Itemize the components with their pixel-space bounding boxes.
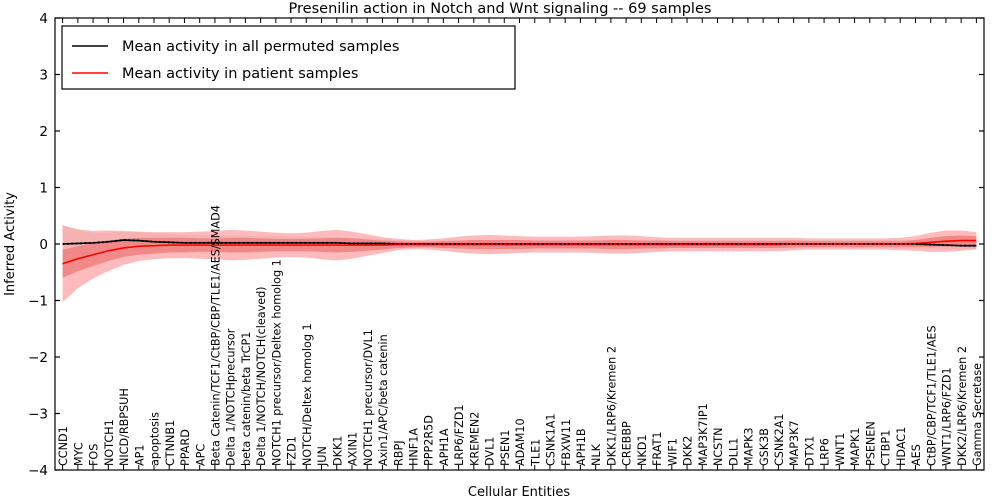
x-tick-label: MYC — [72, 442, 85, 466]
x-tick-label: WNT1 — [834, 433, 847, 466]
x-tick-label: MAPK1 — [849, 427, 862, 466]
x-tick-label: AXIN1 — [347, 432, 360, 466]
x-tick-label: PSENEN — [864, 421, 877, 466]
x-tick-label: NLK — [590, 443, 603, 466]
x-tick-label: DKK2 — [682, 436, 695, 466]
legend-label-permuted: Mean activity in all permuted samples — [122, 39, 399, 55]
x-tick-label: NOTCH1 precursor/Deltex homolog 1 — [270, 259, 283, 466]
x-tick-label: Beta Catenin/TCF1/CtBP/CBP/TLE1/AES/SMAD… — [210, 205, 223, 466]
x-tick-label: DLL1 — [727, 438, 740, 466]
x-tick-label: MAP3K7 — [788, 420, 801, 466]
x-tick-label: NKD1 — [636, 435, 649, 466]
y-axis-label: Inferred Activity — [3, 192, 18, 296]
x-tick-label: WIF1 — [666, 438, 679, 466]
x-tick-label: AES — [910, 444, 923, 466]
y-tick-label: 2 — [39, 124, 48, 140]
y-tick-label: −1 — [28, 294, 48, 310]
x-tick-label: DKK1/LRP6/Kremen 2 — [605, 346, 618, 466]
x-tick-label: Gamma Secretase — [971, 363, 984, 466]
x-tick-label: APH1A — [438, 428, 451, 466]
chart-canvas: Presenilin action in Notch and Wnt signa… — [0, 0, 1000, 500]
x-tick-label: MAPK3 — [743, 427, 756, 466]
x-tick-label: AP1 — [133, 444, 146, 466]
x-tick-label: LRP6 — [819, 438, 832, 466]
x-tick-label: ADAM10 — [514, 418, 527, 466]
x-tick-label: DKK1 — [331, 436, 344, 466]
x-tick-label: CREBBP — [621, 421, 634, 466]
x-tick-label: CSNK2A1 — [773, 413, 786, 466]
x-tick-label: PSEN1 — [499, 430, 512, 466]
x-tick-label: NICD/RBPSUH — [118, 388, 131, 466]
x-tick-label: FRAT1 — [651, 432, 664, 467]
x-tick-label: FBXW11 — [560, 419, 573, 466]
x-tick-label: Delta 1/NOTCH/NOTCH(cleaved) — [255, 286, 268, 466]
x-tick-label: apoptosis — [149, 412, 162, 466]
x-tick-label: CTBP1 — [880, 430, 893, 466]
x-tick-label: GSK3B — [758, 428, 771, 466]
x-tick-label: FZD1 — [286, 436, 299, 466]
y-tick-label: −4 — [28, 463, 48, 479]
x-tick-label: NOTCH/Deltex homolog 1 — [301, 323, 314, 466]
y-tick-label: 3 — [39, 68, 48, 84]
x-tick-label: FOS — [88, 444, 101, 466]
y-tick-label: 4 — [39, 11, 48, 27]
x-tick-label: CTNNB1 — [164, 420, 177, 466]
x-tick-label: PPARD — [179, 429, 192, 466]
x-tick-label: RBPJ — [392, 441, 405, 467]
x-tick-label: APH1B — [575, 428, 588, 466]
x-tick-label: DKK2/LRP6/Kremen 2 — [956, 346, 969, 466]
x-tick-label: CCND1 — [57, 426, 70, 466]
y-tick-label: 1 — [39, 181, 48, 197]
chart-title: Presenilin action in Notch and Wnt signa… — [289, 1, 712, 17]
x-tick-label: HNF1A — [407, 428, 420, 466]
legend-label-patient: Mean activity in patient samples — [122, 66, 358, 82]
x-tick-label: WNT1/LRP6/FZD1 — [941, 367, 954, 466]
x-tick-label: DVL1 — [484, 437, 497, 466]
y-tick-label: 0 — [39, 237, 48, 253]
x-tick-label: CtBP/CBP/TCF1/TLE1/AES — [925, 325, 938, 466]
x-tick-label: JUN — [316, 446, 329, 467]
x-tick-label: DTX1 — [803, 436, 816, 466]
x-tick-label: Axin1/APC/beta catenin — [377, 334, 390, 466]
x-tick-label: NOTCH1 precursor/DVL1 — [362, 329, 375, 466]
x-tick-label: Delta 1/NOTCHprecursor — [225, 328, 238, 466]
x-tick-label: APC — [194, 444, 207, 466]
chart-legend[interactable]: Mean activity in all permuted samples Me… — [62, 26, 515, 89]
x-tick-label: TLE1 — [529, 439, 542, 467]
x-tick-label: MAP3K7IP1 — [697, 403, 710, 466]
x-tick-label: beta catenin/beta TrCP1 — [240, 332, 253, 466]
x-tick-label: CSNK1A1 — [545, 413, 558, 466]
x-tick-label: KREMEN2 — [468, 412, 481, 466]
x-tick-label: NCSTN — [712, 428, 725, 466]
x-tick-label: LRP6/FZD1 — [453, 405, 466, 466]
x-tick-label: PPP2R5D — [423, 415, 436, 466]
chart-figure: Presenilin action in Notch and Wnt signa… — [0, 0, 1000, 500]
y-tick-label: −3 — [28, 407, 48, 423]
x-tick-label: NOTCH1 — [103, 419, 116, 466]
x-tick-label: HDAC1 — [895, 427, 908, 466]
y-tick-label: −2 — [28, 350, 48, 366]
x-axis-label: Cellular Entities — [468, 485, 570, 500]
